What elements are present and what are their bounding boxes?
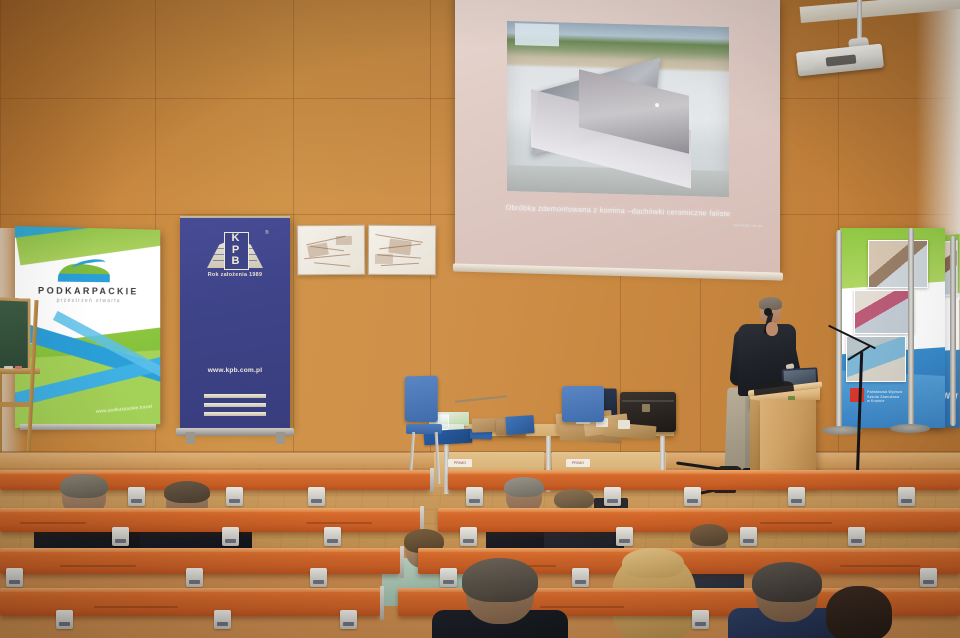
banner-podkarpackie-base xyxy=(20,424,156,430)
seat-bracket xyxy=(684,487,701,506)
desk-row-edge xyxy=(418,548,960,552)
desk-row-edge xyxy=(0,508,420,512)
seat-bracket xyxy=(324,527,341,546)
seat-bracket xyxy=(572,568,589,587)
kpb-stripe xyxy=(204,403,266,407)
desk-row-edge xyxy=(0,470,430,474)
banner-base xyxy=(890,424,930,433)
seat-bracket xyxy=(692,610,709,629)
seat-bracket xyxy=(460,527,477,546)
seat-bracket xyxy=(788,487,805,506)
briefcase-strap xyxy=(622,400,674,402)
seat-bracket xyxy=(214,610,231,629)
projector-mount-pole xyxy=(857,0,862,42)
chalk-piece xyxy=(4,366,13,369)
seat-bracket xyxy=(56,610,73,629)
seat-bracket xyxy=(6,568,23,587)
easel-shelf xyxy=(0,402,30,407)
desk-row-edge xyxy=(448,470,960,474)
seat-bracket xyxy=(440,568,457,587)
table-label-tag: PRIMO xyxy=(448,459,472,467)
seat-bracket xyxy=(310,568,327,587)
slide-highlight xyxy=(655,103,659,107)
kpb-stripe xyxy=(204,394,266,398)
kpb-registered-mark: ® xyxy=(265,230,269,236)
desk-row-edge xyxy=(438,508,960,512)
banner-photo-equipment xyxy=(846,336,906,382)
seat-bracket xyxy=(848,527,865,546)
desk-groove xyxy=(94,606,178,608)
speaker-hand xyxy=(766,322,778,336)
university-name: Państwowa Wyższa Szkoła Zawodowa w Krośn… xyxy=(867,390,902,404)
wall-art-print-1 xyxy=(297,225,365,276)
seat-bracket xyxy=(222,527,239,546)
seat-bracket xyxy=(604,487,621,506)
banner-university-main: Państwowa Wyższa Szkoła Zawodowa w Krośn… xyxy=(840,228,945,428)
seat-bracket xyxy=(308,487,325,506)
desk-groove xyxy=(760,522,832,524)
kpb-url: www.kpb.com.pl xyxy=(180,367,290,374)
kpb-logo-icon: KPB xyxy=(207,232,263,268)
table-label-tag: PRIMO xyxy=(566,459,590,467)
banner-photo-classroom xyxy=(854,290,914,334)
desk-groove xyxy=(60,565,136,567)
projection-screen: Obróbka zdemontowana z komina –dachówki … xyxy=(455,0,780,274)
seat-bracket xyxy=(616,527,633,546)
desk-groove xyxy=(840,565,920,567)
aisle-divider xyxy=(430,468,434,492)
seat-bracket xyxy=(898,487,915,506)
seat-bracket xyxy=(112,527,129,546)
seat-bracket xyxy=(226,487,243,506)
chalkboard xyxy=(0,297,30,373)
banner-kpb-foot xyxy=(186,432,195,444)
seat-bracket xyxy=(466,487,483,506)
kpb-established-text: Rok założenia 1989 xyxy=(180,272,290,278)
sample-label xyxy=(618,420,630,429)
seat-bracket xyxy=(740,527,757,546)
seat-bracket xyxy=(128,487,145,506)
briefcase-clasp xyxy=(642,404,650,412)
banner-pole xyxy=(950,236,956,426)
desk-groove xyxy=(306,522,372,524)
podkarpackie-wordmark: PODKARPACKIE xyxy=(15,285,160,296)
blue-chair-back xyxy=(405,376,438,423)
banner-photo-lab xyxy=(868,240,928,288)
university-logo-icon xyxy=(850,388,864,402)
projector-lens xyxy=(796,51,814,71)
banner-base xyxy=(822,426,862,435)
banner-kpb: KPB ® Rok założenia 1989 www.kpb.com.pl xyxy=(180,216,290,430)
lecture-hall-photo: Obróbka zdemontowana z komina –dachówki … xyxy=(0,0,960,638)
slide-photo xyxy=(507,21,729,197)
banner-kpb-foot xyxy=(276,432,285,444)
kpb-logo-letters: KPB xyxy=(224,232,247,268)
brochure-blue xyxy=(505,415,534,435)
seat-bracket xyxy=(186,568,203,587)
wall-art-print-2 xyxy=(368,225,436,275)
desk-groove xyxy=(20,522,86,524)
wall-seam xyxy=(293,0,294,470)
slide-subcaption: www.kpb.com.pl xyxy=(733,223,762,228)
desk-row-edge xyxy=(0,548,400,552)
seat-bracket xyxy=(920,568,937,587)
microphone-capsule-icon xyxy=(764,308,772,316)
chalk-piece xyxy=(15,366,22,369)
banner-kpb-top-rail xyxy=(180,216,290,218)
banner-pole xyxy=(908,228,914,428)
desk-row-edge xyxy=(0,588,380,592)
aisle-divider xyxy=(380,586,384,620)
kpb-stripe xyxy=(204,412,266,416)
desk-groove xyxy=(540,606,624,608)
slide-photo-window xyxy=(515,23,559,46)
seat-bracket xyxy=(340,610,357,629)
aisle-divider xyxy=(400,546,404,578)
blue-chair-back xyxy=(562,386,604,422)
